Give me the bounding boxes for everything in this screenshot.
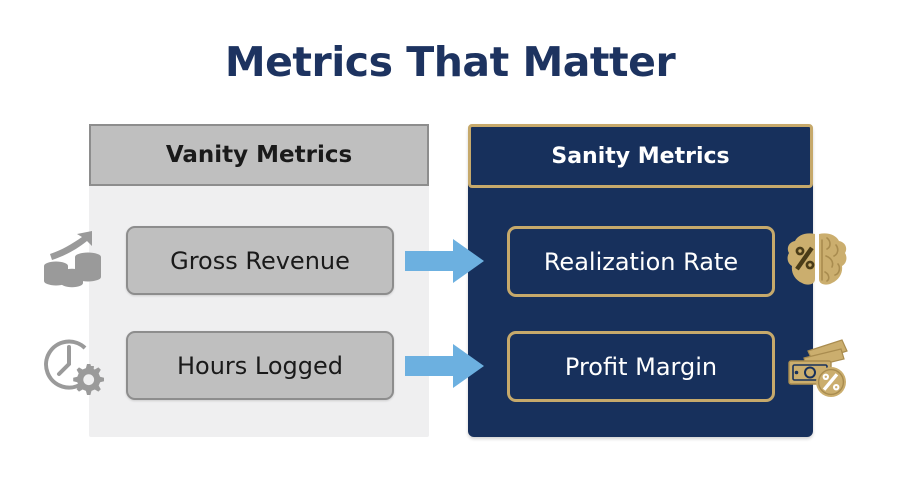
metric-label-gross-revenue: Gross Revenue — [170, 247, 350, 275]
sanity-metrics-header-label: Sanity Metrics — [551, 144, 729, 169]
vanity-metrics-header: Vanity Metrics — [89, 124, 429, 186]
brain-percent-icon — [786, 228, 848, 290]
metric-label-hours-logged: Hours Logged — [177, 352, 343, 380]
money-percent-icon — [786, 337, 848, 399]
page-title: Metrics That Matter — [0, 38, 900, 86]
vanity-metrics-header-label: Vanity Metrics — [166, 142, 352, 168]
sanity-metrics-header: Sanity Metrics — [468, 124, 813, 188]
coins-growth-icon — [42, 228, 104, 290]
arrow-right-icon — [405, 237, 485, 285]
metric-label-profit-margin: Profit Margin — [565, 353, 717, 381]
arrow-right-icon — [405, 342, 485, 390]
metric-box-profit-margin[interactable]: Profit Margin — [507, 331, 775, 402]
metric-box-hours-logged[interactable]: Hours Logged — [126, 331, 394, 400]
metric-label-realization-rate: Realization Rate — [544, 248, 738, 276]
metric-box-gross-revenue[interactable]: Gross Revenue — [126, 226, 394, 295]
metric-box-realization-rate[interactable]: Realization Rate — [507, 226, 775, 297]
clock-gear-icon — [42, 333, 104, 395]
slide-canvas: Metrics That Matter Vanity Metrics Gross… — [0, 0, 900, 491]
